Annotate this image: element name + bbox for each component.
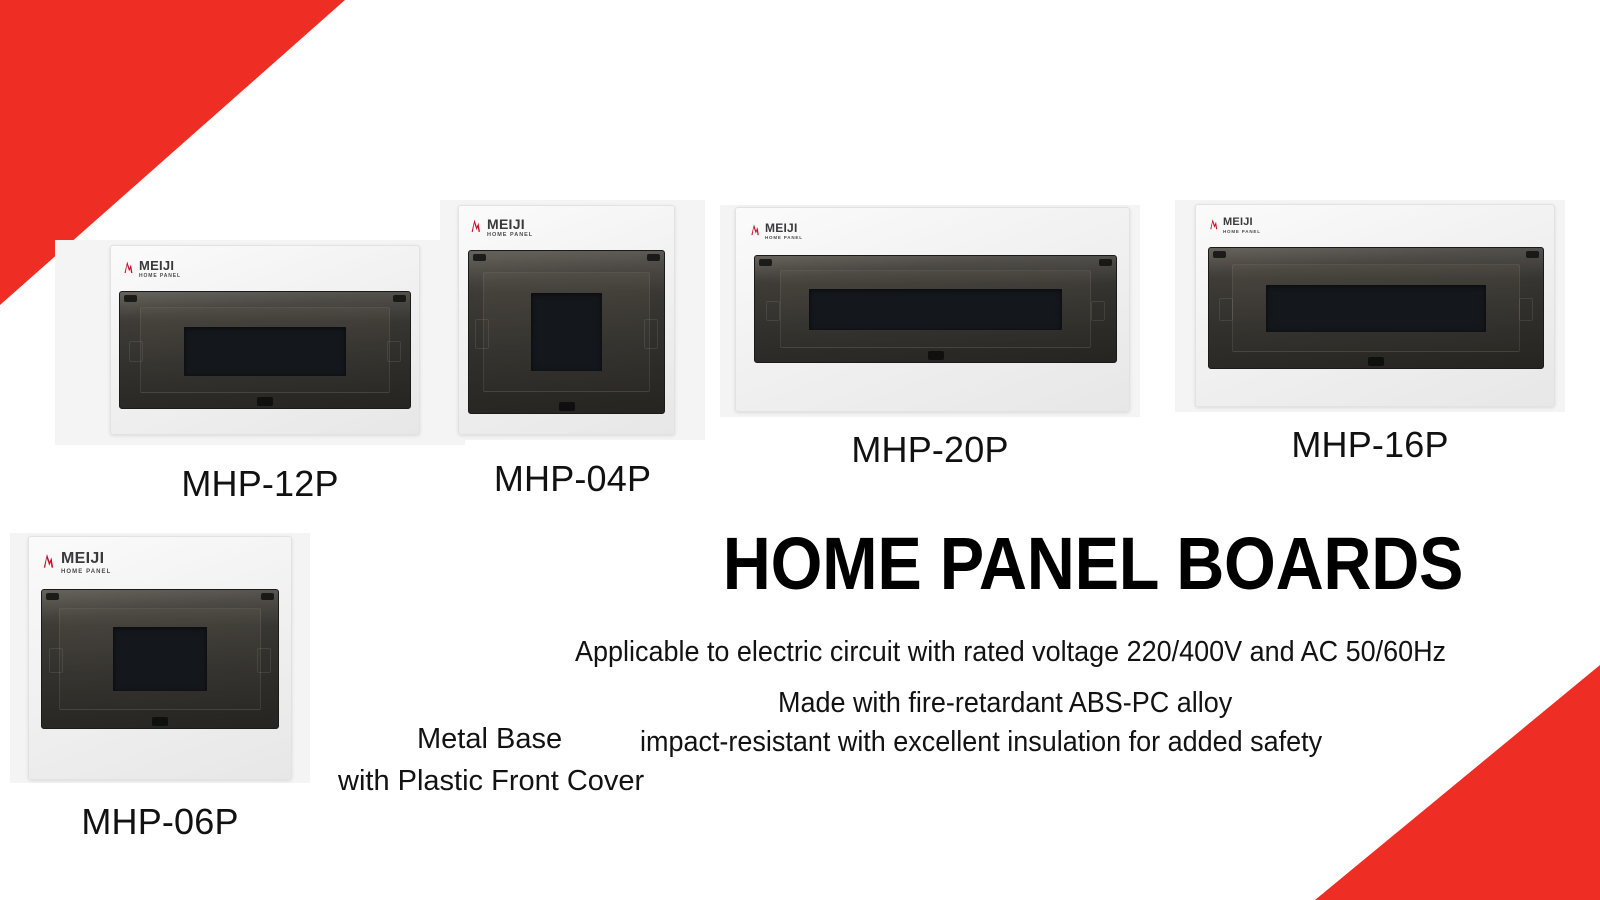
brand-name: MEIJI <box>765 222 803 234</box>
brand-tagline: HOME PANEL <box>61 569 111 575</box>
brand-name: MEIJI <box>61 551 111 567</box>
door-latch <box>257 397 273 406</box>
smoked-door-cover <box>754 255 1117 363</box>
door-clip-left <box>766 301 780 321</box>
din-rail-window <box>184 327 346 376</box>
din-rail-window <box>1266 285 1486 332</box>
product-label: MHP-04P <box>440 458 705 500</box>
panel-enclosure: MEIJI HOME PANEL <box>458 205 675 435</box>
product-card-mhp-04p[interactable]: MEIJI HOME PANEL MHP-04P <box>440 200 705 500</box>
hinge-right <box>1526 251 1539 258</box>
meiji-logo: MEIJI HOME PANEL <box>750 222 803 241</box>
meiji-flame-mark <box>123 259 139 275</box>
meiji-flame-mark <box>750 222 765 237</box>
brand-name: MEIJI <box>139 259 181 272</box>
panel-enclosure: MEIJI HOME PANEL <box>110 245 420 435</box>
meiji-logo: MEIJI HOME PANEL <box>42 551 111 575</box>
hinge-right <box>647 254 660 261</box>
brand-tagline: HOME PANEL <box>487 233 533 239</box>
din-rail-window <box>809 289 1062 330</box>
door-clip-left <box>49 648 63 673</box>
page-title: HOME PANEL BOARDS <box>723 527 1403 601</box>
poster-canvas: MEIJI HOME PANEL MHP-12P <box>0 0 1600 900</box>
din-rail-window <box>113 627 207 691</box>
smoked-door-cover <box>1208 247 1544 369</box>
product-card-mhp-16p[interactable]: MEIJI HOME PANEL MHP-16P <box>1175 200 1565 466</box>
hinge-right <box>1099 259 1112 266</box>
meiji-logo: MEIJI HOME PANEL <box>470 217 533 239</box>
door-clip-right <box>387 341 401 363</box>
meiji-logo: MEIJI HOME PANEL <box>1209 217 1261 235</box>
meiji-flame-mark <box>42 551 61 570</box>
brand-tagline: HOME PANEL <box>765 236 803 241</box>
meiji-flame-mark <box>1209 217 1223 231</box>
product-label: MHP-20P <box>720 429 1140 471</box>
door-clip-left <box>129 341 143 363</box>
meiji-flame-mark <box>470 217 487 234</box>
meiji-wordmark-group: MEIJI HOME PANEL <box>487 217 533 239</box>
meiji-logo: MEIJI HOME PANEL <box>123 259 181 279</box>
product-card-mhp-06p[interactable]: MEIJI HOME PANEL MHP-06P <box>10 533 310 843</box>
door-clip-right <box>1091 301 1105 321</box>
meiji-wordmark-group: MEIJI HOME PANEL <box>1223 217 1261 235</box>
smoked-door-cover <box>468 250 665 414</box>
spec-impact: impact-resistant with excellent insulati… <box>640 727 1322 759</box>
brand-tagline: HOME PANEL <box>139 274 181 279</box>
panel-enclosure: MEIJI HOME PANEL <box>1195 204 1555 407</box>
product-label: MHP-06P <box>10 801 310 843</box>
door-latch <box>559 402 575 411</box>
brand-name: MEIJI <box>1223 217 1261 228</box>
hinge-left <box>1213 251 1226 258</box>
hinge-left <box>473 254 486 261</box>
red-corner-triangle-bottom-right <box>1315 665 1600 900</box>
panel-enclosure: MEIJI HOME PANEL <box>735 207 1130 412</box>
hinge-left <box>759 259 772 266</box>
product-label: MHP-12P <box>55 463 465 505</box>
smoked-door-cover <box>119 291 411 409</box>
meiji-wordmark-group: MEIJI HOME PANEL <box>139 259 181 279</box>
hinge-left <box>46 593 59 600</box>
meiji-wordmark-group: MEIJI HOME PANEL <box>765 222 803 241</box>
hinge-left <box>124 295 137 302</box>
product-photo: MEIJI HOME PANEL <box>10 533 310 783</box>
din-rail-window <box>531 293 601 371</box>
product-card-mhp-20p[interactable]: MEIJI HOME PANEL MHP-20P <box>720 205 1140 471</box>
door-latch <box>928 351 944 360</box>
door-clip-right <box>257 648 271 673</box>
brand-name: MEIJI <box>487 217 533 231</box>
door-latch <box>1368 357 1384 366</box>
product-photo: MEIJI HOME PANEL <box>440 200 705 440</box>
hinge-right <box>393 295 406 302</box>
hinge-right <box>261 593 274 600</box>
door-clip-left <box>1219 298 1233 320</box>
product-card-mhp-12p[interactable]: MEIJI HOME PANEL MHP-12P <box>55 240 465 505</box>
note-plastic-front-cover: with Plastic Front Cover <box>338 766 644 798</box>
meiji-wordmark-group: MEIJI HOME PANEL <box>61 551 111 575</box>
product-photo: MEIJI HOME PANEL <box>720 205 1140 417</box>
smoked-door-cover <box>41 589 279 729</box>
spec-voltage: Applicable to electric circuit with rate… <box>575 637 1446 669</box>
door-clip-left <box>475 319 489 349</box>
brand-tagline: HOME PANEL <box>1223 230 1261 235</box>
product-photo: MEIJI HOME PANEL <box>55 240 465 445</box>
product-label: MHP-16P <box>1175 424 1565 466</box>
door-latch <box>152 717 168 726</box>
product-photo: MEIJI HOME PANEL <box>1175 200 1565 412</box>
door-clip-right <box>644 319 658 349</box>
door-clip-right <box>1519 298 1533 320</box>
spec-material: Made with fire-retardant ABS-PC alloy <box>778 688 1232 720</box>
panel-enclosure: MEIJI HOME PANEL <box>28 536 292 780</box>
note-metal-base: Metal Base <box>417 724 562 756</box>
